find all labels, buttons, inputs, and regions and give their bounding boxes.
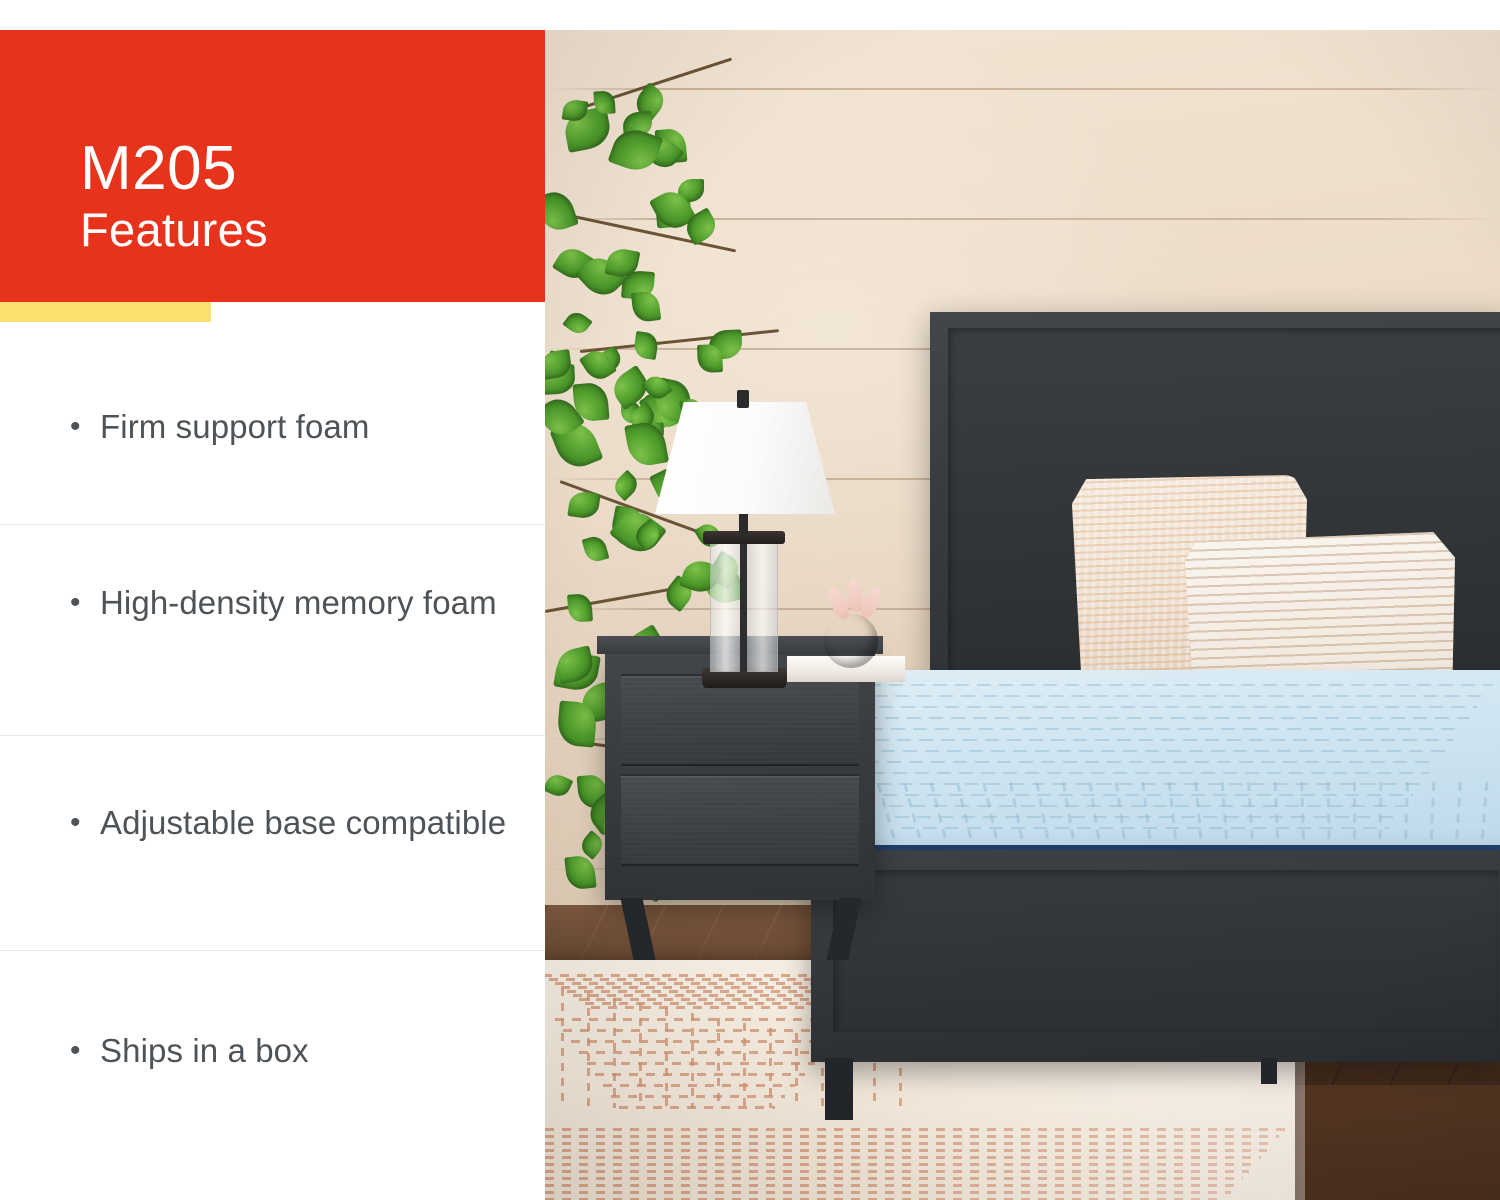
pillow-texture (1185, 532, 1455, 692)
lumbar-accent-pillow (1185, 532, 1455, 692)
nightstand-drawer-lower (621, 774, 859, 866)
feature-label: Firm support foam (100, 404, 369, 450)
list-item: • Ships in a box (0, 1028, 545, 1074)
header-text-group: M205 Features (80, 138, 268, 258)
feature-list: • Firm support foam • High-density memor… (0, 322, 545, 1200)
bullet-icon: • (70, 580, 100, 626)
feature-label: Ships in a box (100, 1028, 309, 1074)
product-model-title: M205 (80, 138, 268, 200)
wood-grain-texture (621, 776, 859, 864)
decorative-sphere-vase (824, 614, 878, 668)
features-panel: M205 Features • Firm support foam • High… (0, 0, 545, 1200)
list-divider (0, 735, 545, 736)
product-feature-card: M205 Features • Firm support foam • High… (0, 0, 1500, 1200)
feature-label: Adjustable base compatible (100, 800, 506, 846)
lamp-neck (739, 512, 748, 536)
lamp-center-rod (740, 542, 747, 672)
lamp-finial (737, 390, 749, 408)
list-item: • Firm support foam (0, 404, 545, 450)
wood-grain-texture (621, 676, 859, 764)
list-item: • Adjustable base compatible (0, 800, 545, 846)
list-divider (0, 524, 545, 525)
bullet-icon: • (70, 404, 100, 450)
yellow-accent-bar (0, 302, 211, 322)
bed-leg (825, 1058, 853, 1120)
bed-leg (1261, 1058, 1277, 1084)
list-item: • High-density memory foam (0, 580, 545, 626)
list-divider (0, 950, 545, 951)
bullet-icon: • (70, 800, 100, 846)
bedroom-scene-photo (545, 30, 1500, 1200)
bullet-icon: • (70, 1028, 100, 1074)
bed-footboard (811, 850, 1500, 1062)
footboard-inset-panel (833, 870, 1499, 1032)
lamp-shade (655, 402, 835, 514)
mattress-top-surface (813, 670, 1500, 845)
feature-label: High-density memory foam (100, 580, 497, 626)
header-banner: M205 Features (0, 30, 545, 302)
page-title: Features (80, 202, 268, 258)
